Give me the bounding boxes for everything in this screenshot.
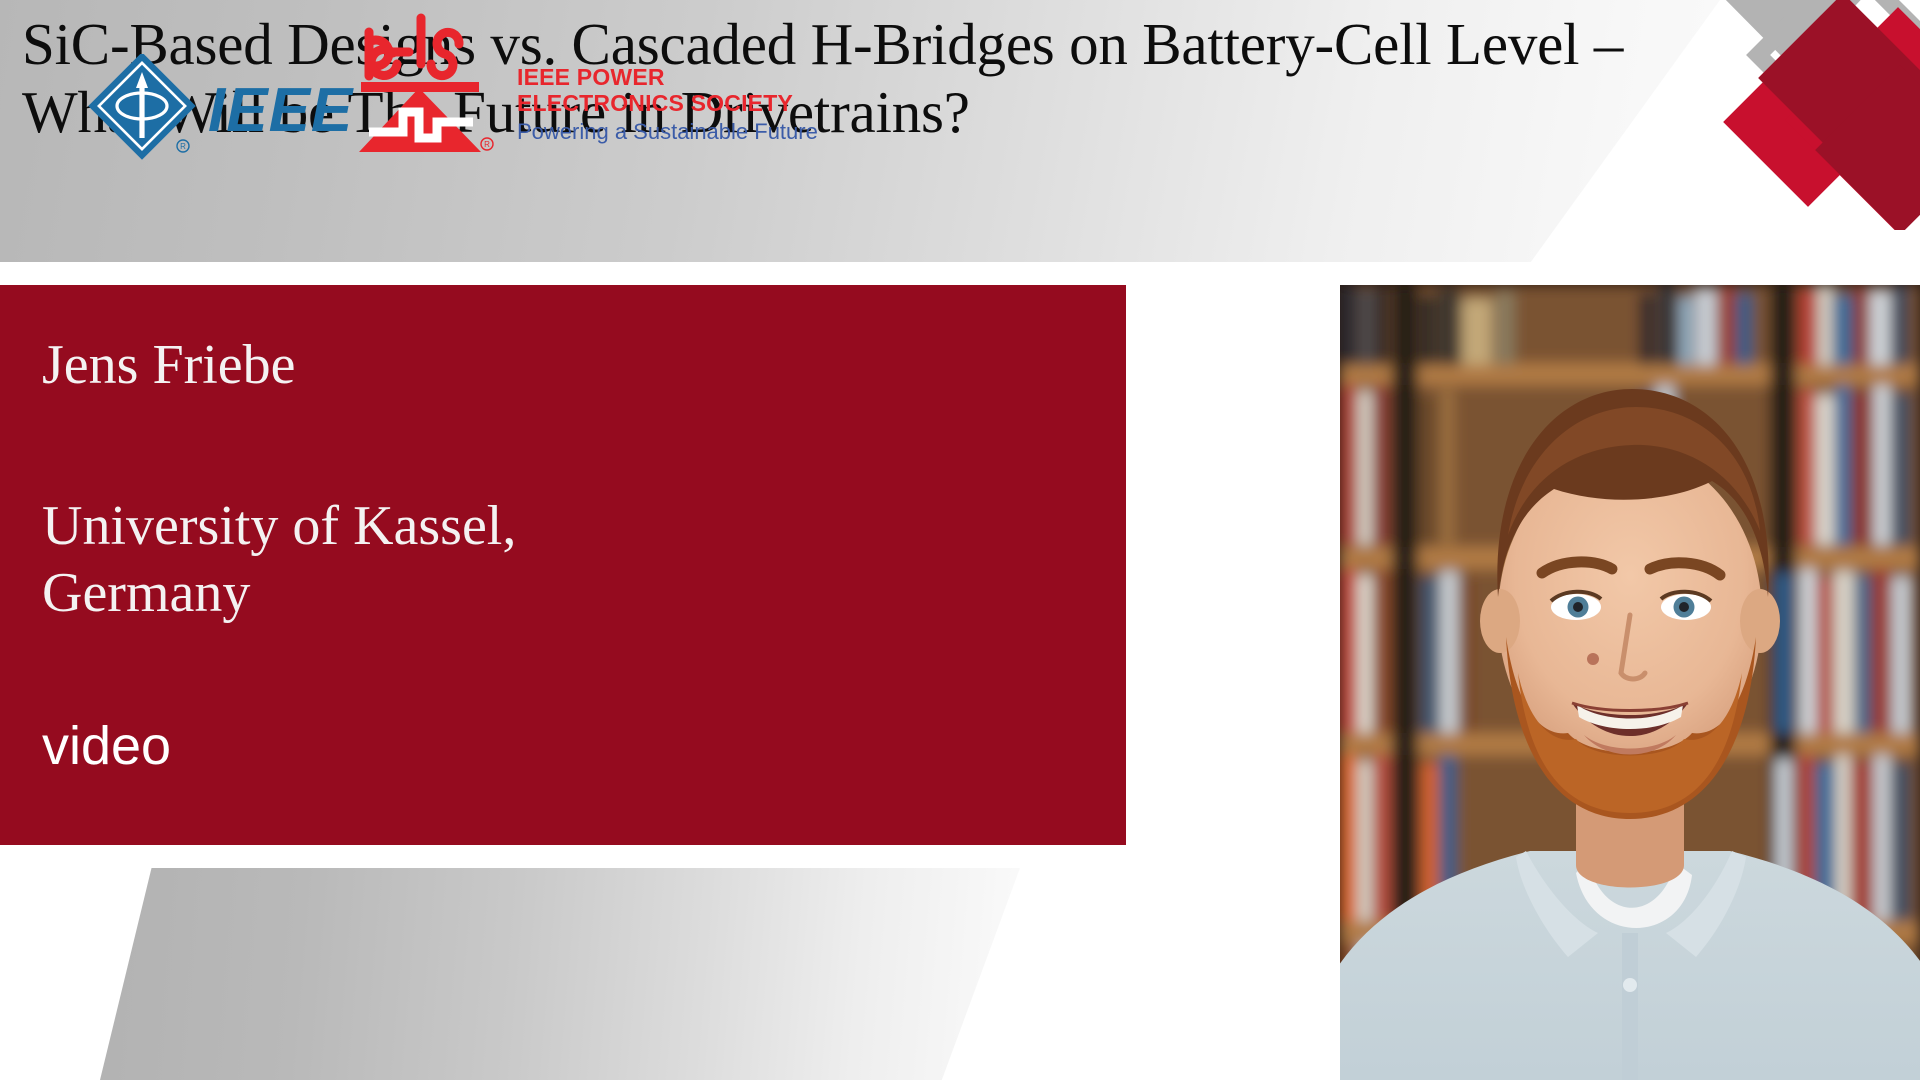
diamond-corner-mark — [1660, 0, 1920, 230]
speaker-info-panel: Jens Friebe University of Kassel, German… — [0, 285, 1126, 845]
svg-text:R: R — [180, 142, 186, 151]
pels-triangle-waveform-emblem: R — [355, 4, 505, 161]
ieee-wordmark: IEEE — [208, 80, 353, 142]
slide-root: SiC-Based Designs vs. Cascaded H-Bridges… — [0, 0, 1920, 1080]
logo-band — [100, 868, 1020, 1080]
pels-tagline: Powering a Sustainable Future — [517, 119, 818, 145]
ieee-logo: R IEEE — [88, 54, 353, 167]
speaker-info-content: Jens Friebe University of Kassel, German… — [42, 335, 1086, 773]
pels-logo: R IEEE POWER ELECTRONICS SOCIETY Powerin… — [355, 4, 818, 161]
video-link-label[interactable]: video — [42, 719, 1086, 773]
ieee-diamond-kite-emblem: R — [88, 54, 196, 167]
speaker-name: Jens Friebe — [42, 335, 1086, 397]
svg-text:R: R — [484, 140, 490, 149]
pels-line-1: IEEE POWER — [517, 65, 818, 91]
pels-line-2: ELECTRONICS SOCIETY — [517, 91, 818, 117]
pels-text-block: IEEE POWER ELECTRONICS SOCIETY Powering … — [517, 65, 818, 161]
speaker-headshot — [1340, 285, 1920, 1080]
speaker-affiliation: University of Kassel, Germany — [42, 493, 862, 627]
